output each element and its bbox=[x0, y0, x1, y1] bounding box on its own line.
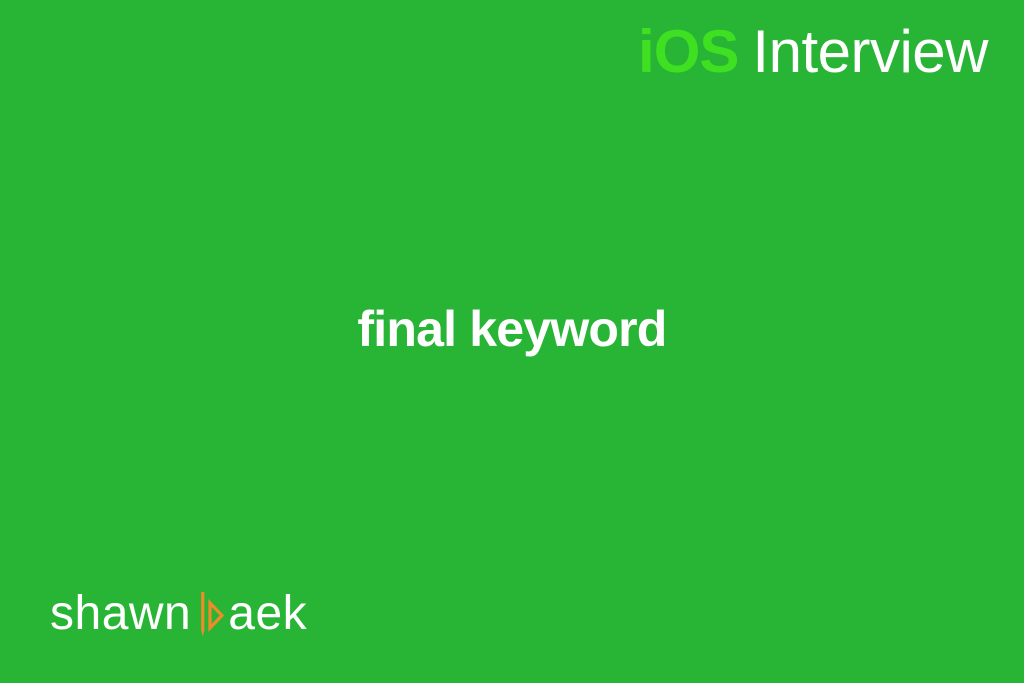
brand-logo: shawn aek bbox=[50, 586, 307, 638]
presentation-slide: iOS Interview final keyword shawn aek bbox=[0, 0, 1024, 683]
header-accent-label: iOS bbox=[638, 22, 738, 82]
brand-text-before: shawn bbox=[50, 590, 191, 638]
brand-text-after: aek bbox=[228, 590, 307, 638]
header-title-label: Interview bbox=[752, 22, 988, 82]
page-title: final keyword bbox=[0, 302, 1024, 357]
pencil-play-mark-icon bbox=[195, 590, 225, 642]
slide-header: iOS Interview bbox=[638, 22, 988, 82]
